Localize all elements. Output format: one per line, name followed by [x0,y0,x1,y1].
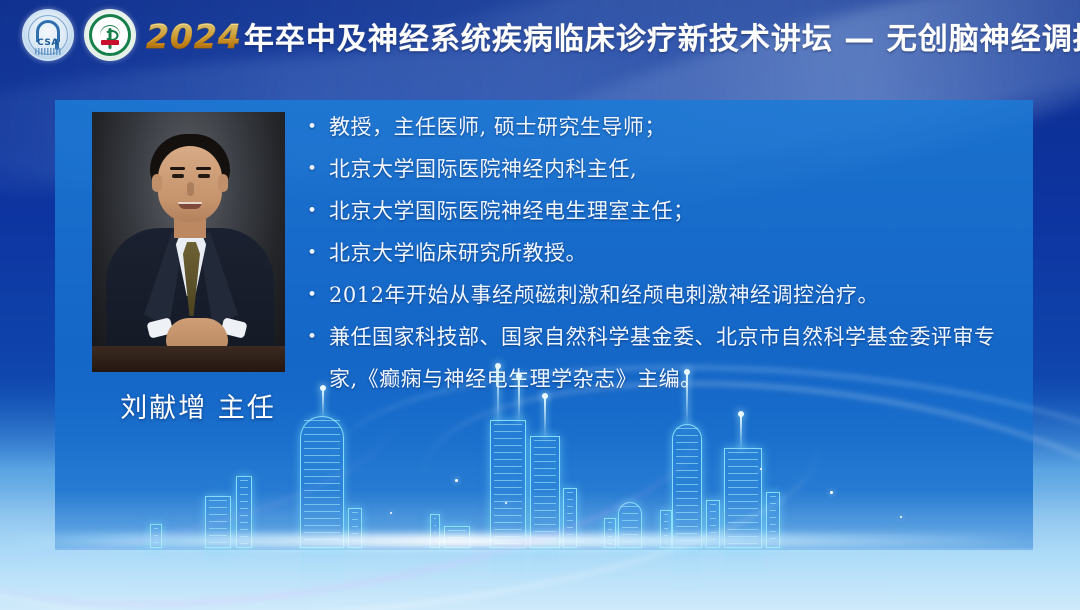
bullet-marker: • [307,274,329,316]
list-item-label: 北京大学国际医院神经电生理室主任； [329,190,1007,232]
sparkle [455,479,458,482]
speaker-photo [92,112,285,372]
list-item-label: 2012年开始从事经颅磁刺激和经颅电刺激神经调控治疗。 [329,274,1007,316]
sparkle [390,512,392,514]
csa-logo-icon: CSA [22,9,74,61]
list-item-label: 北京大学国际医院神经内科主任, [329,148,1007,190]
sparkle [830,491,833,494]
page-title: 2024 年卒中及神经系统疾病临床诊疗新技术讲坛 — 无创脑神经调控 [146,14,1080,58]
sparkle [760,468,762,470]
list-item: • 北京大学国际医院神经电生理室主任； [307,190,1007,232]
bullet-marker: • [307,232,329,274]
title-year: 2024 [146,17,244,56]
slide-root: CSA 2024 年卒中及神经系统疾病临床诊疗新技术讲坛 — 无创脑神经调控 [0,0,1080,610]
list-item: • 教授，主任医师, 硕士研究生导师； [307,106,1007,148]
bottom-decoration [0,430,1080,610]
list-item: • 北京大学临床研究所教授。 [307,232,1007,274]
sparkle [900,516,902,518]
bullet-marker: • [307,106,329,148]
cma-logo-icon [84,9,136,61]
list-item-label: 北京大学临床研究所教授。 [329,232,1007,274]
list-item: • 2012年开始从事经颅磁刺激和经颅电刺激神经调控治疗。 [307,274,1007,316]
bullet-marker: • [307,316,329,358]
bio-bullet-list: • 教授，主任医师, 硕士研究生导师； • 北京大学国际医院神经内科主任, • … [307,106,1007,400]
header-banner: CSA 2024 年卒中及神经系统疾病临床诊疗新技术讲坛 — 无创脑神经调控 [0,0,1080,72]
title-main: 年卒中及神经系统疾病临床诊疗新技术讲坛 — 无创脑神经调控 [244,14,1080,58]
csa-logo-text: CSA [37,38,59,48]
list-item-label: 教授，主任医师, 硕士研究生导师； [329,106,1007,148]
list-item: • 北京大学国际医院神经内科主任, [307,148,1007,190]
bullet-marker: • [307,190,329,232]
sparkle [505,502,507,504]
bullet-marker: • [307,148,329,190]
